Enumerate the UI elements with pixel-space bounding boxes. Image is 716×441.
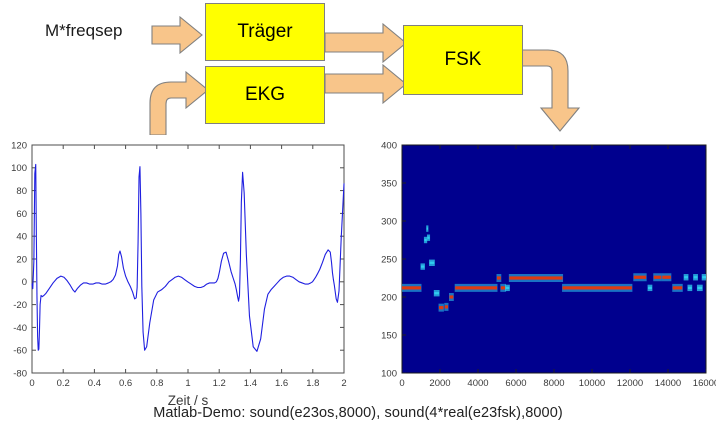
block-fsk[interactable]: FSK	[403, 25, 523, 95]
spectrogram-ridge-core	[450, 295, 454, 298]
spectrogram-ridge-core	[497, 276, 501, 279]
ecg-y-tick-label: 120	[11, 140, 27, 151]
ecg-x-tick-label: 1.2	[213, 378, 226, 389]
spectrogram-ridge-core	[455, 286, 497, 289]
fsk-output-arrow	[521, 50, 579, 131]
spectrogram-ridge-core	[509, 276, 562, 279]
spectrogram-x-tick-label: 12000	[617, 378, 643, 389]
ecg-y-tick-label: 20	[16, 254, 27, 265]
spectrogram-ridge-core	[434, 292, 439, 294]
spectrogram-ridge-core	[501, 286, 506, 289]
ecg-y-tick-label: -20	[13, 300, 27, 311]
ecg-y-tick-label: -40	[13, 323, 27, 334]
spectrogram-ridge-core	[427, 228, 428, 230]
block-traeger[interactable]: Träger	[205, 3, 325, 61]
spectrogram-ridge-core	[427, 237, 429, 239]
ekg-to-fsk-arrow	[325, 65, 406, 103]
ecg-y-tick-label: 60	[16, 209, 27, 220]
block-ekg[interactable]: EKG	[205, 66, 325, 124]
spectrogram-y-tick-label: 200	[381, 292, 397, 303]
spectrogram-x-tick-label: 8000	[543, 378, 564, 389]
ecg-x-tick-label: 1.8	[306, 378, 319, 389]
ecg-x-axis-label: Zeit / s	[168, 393, 209, 405]
ecg-y-tick-label: 100	[11, 163, 27, 174]
spectrogram-y-tick-label: 350	[381, 178, 397, 189]
caption-text: Matlab-Demo: sound(e23os,8000), sound(4*…	[0, 405, 716, 421]
fsk-spectrogram: 0200040006000800010000120001400016000400…	[360, 135, 716, 405]
ecg-plot-frame	[32, 145, 344, 373]
spectrogram-x-tick-label: 2000	[429, 378, 450, 389]
spectrogram-ridge-core	[684, 276, 688, 278]
spectrogram-ridge-core	[654, 276, 662, 279]
block-ekg-label: EKG	[245, 84, 285, 106]
input-to-traeger-arrow	[152, 17, 202, 53]
spectrogram-y-tick-label: 300	[381, 216, 397, 227]
spectrogram-canvas	[402, 145, 706, 373]
spectrogram-ridge-core	[688, 287, 692, 289]
spectrogram-ridge-core	[694, 276, 698, 278]
spectrogram-y-tick-label: 100	[381, 368, 397, 379]
ecg-y-tick-label: 40	[16, 232, 27, 243]
ecg-x-tick-label: 0.6	[119, 378, 132, 389]
block-traeger-label: Träger	[237, 21, 292, 43]
spectrogram-x-tick-label: 0	[399, 378, 404, 389]
spectrogram-ridge-core	[506, 287, 510, 289]
spectrogram-ridge-core	[430, 262, 435, 264]
spectrogram-x-tick-label: 16000	[693, 378, 716, 389]
ecg-x-tick-label: 1.6	[275, 378, 288, 389]
spectrogram-ridge-core	[673, 286, 683, 289]
spectrogram-x-tick-label: 14000	[655, 378, 681, 389]
spectrogram-ridge-core	[563, 286, 632, 289]
ecg-y-tick-label: 0	[22, 277, 27, 288]
ecg-x-tick-label: 0	[29, 378, 34, 389]
block-fsk-label: FSK	[445, 49, 482, 71]
spectrogram-ridge-core	[445, 305, 448, 308]
diagram-arrows	[0, 0, 716, 135]
spectrogram-x-tick-label: 6000	[505, 378, 526, 389]
ecg-x-tick-label: 1.4	[244, 378, 257, 389]
ecg-x-tick-label: 0.8	[150, 378, 163, 389]
ecg-x-tick-label: 1	[185, 378, 190, 389]
spectrogram-y-tick-label: 400	[381, 140, 397, 151]
ecg-x-tick-label: 2	[341, 378, 346, 389]
spectrogram-ridge-core	[648, 287, 652, 289]
spectrogram-ridge-core	[439, 306, 443, 309]
spectrogram-ridge-core	[424, 239, 426, 241]
ecg-y-tick-label: -60	[13, 346, 27, 357]
spectrogram-y-tick-label: 250	[381, 254, 397, 265]
spectrogram-ridge-core	[634, 276, 646, 279]
ecg-x-tick-label: 0.2	[57, 378, 70, 389]
traeger-to-fsk-arrow	[325, 24, 406, 62]
block-diagram: M*freqsep Träger EKG FSK	[0, 0, 716, 135]
ecg-x-tick-label: 0.4	[88, 378, 101, 389]
spectrogram-x-tick-label: 10000	[579, 378, 605, 389]
spectrogram-ridge-core	[662, 276, 671, 279]
spectrogram-ridge-core	[697, 287, 702, 289]
spectrogram-ridge-core	[402, 286, 421, 289]
ecg-plot: 00.20.40.60.811.21.41.61.821201008060402…	[0, 135, 358, 405]
feedback-to-ekg-arrow	[150, 72, 208, 135]
ecg-y-tick-label: 80	[16, 186, 27, 197]
spectrogram-x-tick-label: 4000	[467, 378, 488, 389]
ecg-y-tick-label: -80	[13, 368, 27, 379]
spectrogram-y-tick-label: 150	[381, 330, 397, 341]
spectrogram-ridge-core	[421, 266, 424, 268]
spectrogram-ridge-core	[702, 276, 706, 278]
